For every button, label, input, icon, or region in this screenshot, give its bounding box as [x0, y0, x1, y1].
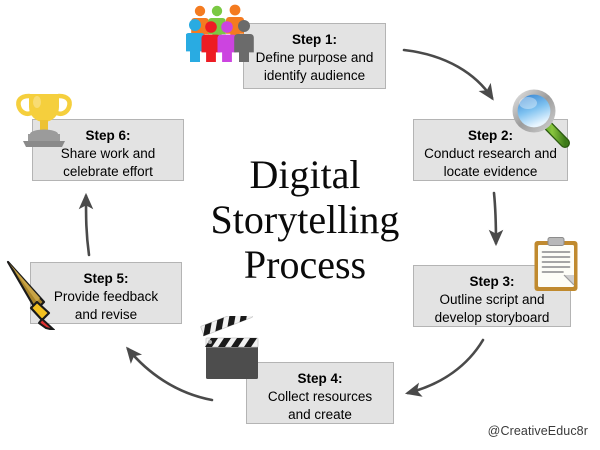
diagram-title-line-1: Digital	[190, 152, 420, 197]
people-group-icon	[186, 2, 260, 62]
arrow-step2-to-step3	[494, 193, 496, 243]
digital-storytelling-process-diagram: Step 1: Define purpose and identify audi…	[0, 0, 600, 450]
diagram-title: Digital Storytelling Process	[190, 152, 420, 287]
diagram-title-line-3: Process	[190, 242, 420, 287]
step-1-title: Step 1:	[244, 31, 385, 49]
arrow-step1-to-step2	[404, 50, 492, 98]
clipboard-icon	[533, 237, 579, 293]
step-2-line-2: locate evidence	[414, 163, 567, 181]
step-4-line-2: and create	[247, 406, 393, 424]
paintbrush-icon	[4, 258, 68, 330]
step-3-line-1: Outline script and	[414, 291, 570, 309]
step-6-line-2: celebrate effort	[33, 163, 183, 181]
step-4-line-1: Collect resources	[247, 388, 393, 406]
clapperboard-icon	[198, 316, 278, 382]
arrow-step5-to-step6	[86, 196, 89, 255]
watermark-handle: @CreativeEduc8r	[488, 424, 588, 438]
arrow-step3-to-step4	[408, 340, 483, 393]
step-box-1[interactable]: Step 1: Define purpose and identify audi…	[243, 23, 386, 89]
step-1-line-2: identify audience	[244, 67, 385, 85]
step-1-line-1: Define purpose and	[244, 49, 385, 67]
step-3-line-2: develop storyboard	[414, 309, 570, 327]
diagram-title-line-2: Storytelling	[190, 197, 420, 242]
magnifying-glass-icon	[508, 86, 574, 152]
trophy-icon	[13, 88, 75, 150]
